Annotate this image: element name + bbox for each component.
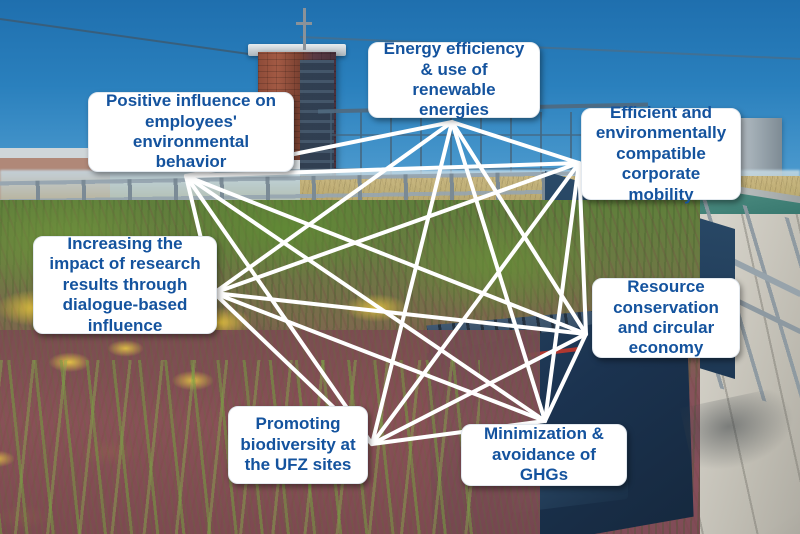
node-label-research: Increasing the impact of research result… [44,234,206,336]
node-corporate-mobility[interactable]: Efficient and environmentally compatible… [581,108,741,200]
node-resource-conservation[interactable]: Resource conservation and circular econo… [592,278,740,358]
node-label-resource: Resource conservation and circular econo… [603,277,729,359]
node-energy-efficiency[interactable]: Energy efficiency & use of renewable ene… [368,42,540,118]
node-research-impact[interactable]: Increasing the impact of research result… [33,236,217,334]
scene-canvas: Energy efficiency & use of renewable ene… [0,0,800,534]
node-label-biodiv: Promoting biodiversity at the UFZ sites [239,414,357,475]
node-label-positive: Positive influence on employees' environ… [99,91,283,173]
node-positive-influence[interactable]: Positive influence on employees' environ… [88,92,294,172]
node-promoting-biodiversity[interactable]: Promoting biodiversity at the UFZ sites [228,406,368,484]
node-label-mobility: Efficient and environmentally compatible… [592,103,730,205]
node-label-energy: Energy efficiency & use of renewable ene… [379,39,529,121]
node-ghg-minimization[interactable]: Minimization & avoidance of GHGs [461,424,627,486]
network-edge-energy-resource [452,122,586,334]
network-edge-mobility-research [214,163,579,293]
network-edge-energy-mobility [452,122,579,163]
node-label-ghg: Minimization & avoidance of GHGs [472,424,616,485]
